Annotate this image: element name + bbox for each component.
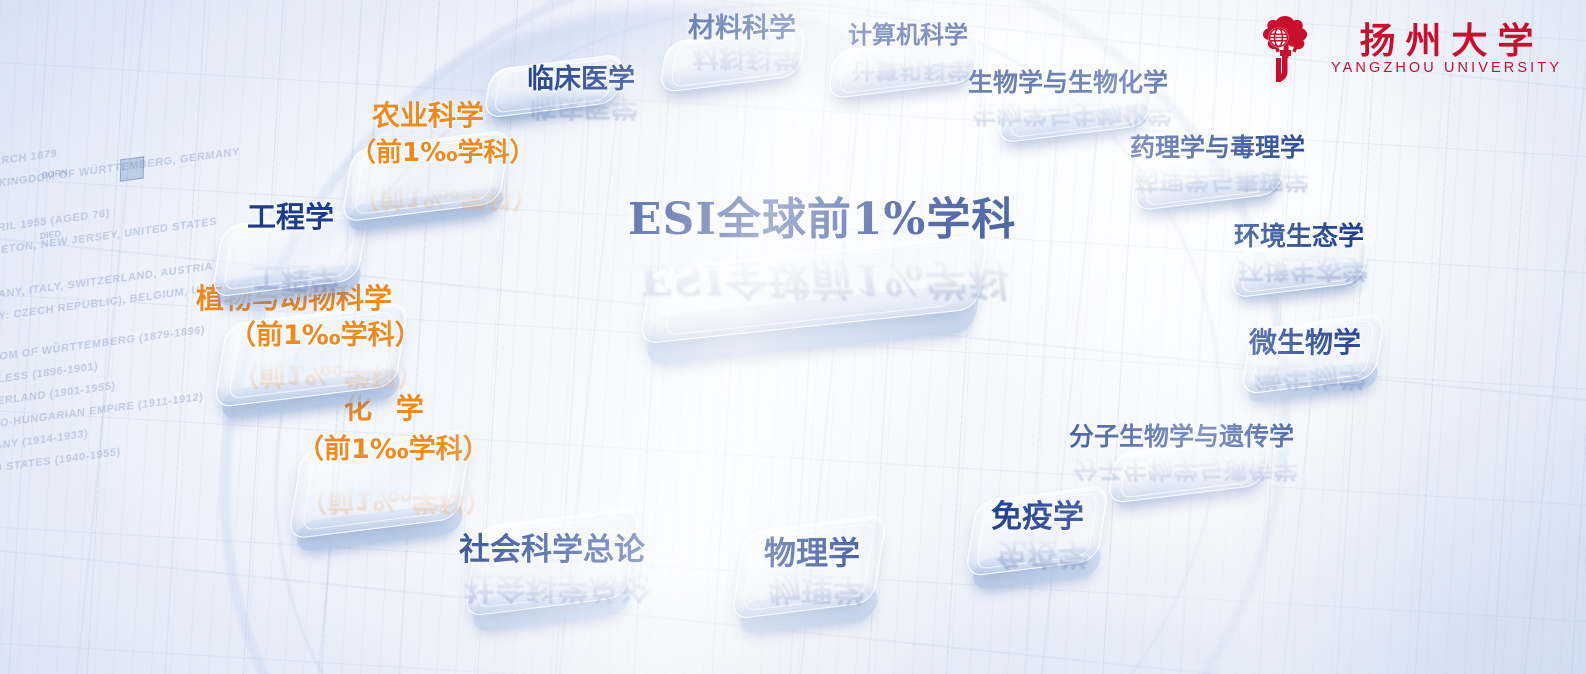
discipline-label: 计算机科学: [848, 22, 968, 50]
discipline-label: 生物学与生物化学: [968, 68, 1168, 97]
logo-name-cn: 扬州大学: [1349, 23, 1543, 59]
background-document-side-labels: BORN DIED: [39, 129, 161, 266]
doc-side-label: DIED: [39, 190, 160, 266]
discipline-label: 环境生态学: [1234, 222, 1364, 252]
discipline-label: 分子生物学与遗传学: [1069, 422, 1294, 451]
logo-wordmark: 扬州大学 YANGZHOU UNIVERSITY: [1331, 23, 1562, 76]
university-logo[interactable]: 扬州大学 YANGZHOU UNIVERSITY: [1253, 14, 1562, 84]
discipline-label: 物理学: [764, 535, 860, 572]
discipline-label: 社会科学总论: [459, 533, 645, 569]
discipline-label: 农业科学: [372, 100, 484, 132]
discipline-label: 临床医学: [527, 64, 635, 95]
discipline-sub-label: （前1‰学科）: [350, 138, 536, 168]
discipline-sub-label: （前1‰学科）: [229, 320, 422, 351]
discipline-label: 工程学: [247, 201, 334, 235]
yangzhou-university-emblem-icon: [1253, 14, 1317, 84]
document-swatch: [120, 156, 144, 181]
center-title: ESI全球前1%学科: [628, 183, 1016, 247]
esi-disciplines-poster: BORN DIED 14 MARCH 1879 ULM, KINGDOM OF …: [0, 0, 1586, 674]
discipline-sub-label: （前1‰学科）: [297, 434, 490, 465]
logo-name-en: YANGZHOU UNIVERSITY: [1331, 61, 1562, 76]
discipline-label: 药理学与毒理学: [1130, 133, 1305, 162]
discipline-label: 材料科学: [688, 13, 796, 44]
discipline-label: 微生物学: [1249, 327, 1361, 359]
discipline-label: 免疫学: [991, 500, 1084, 536]
